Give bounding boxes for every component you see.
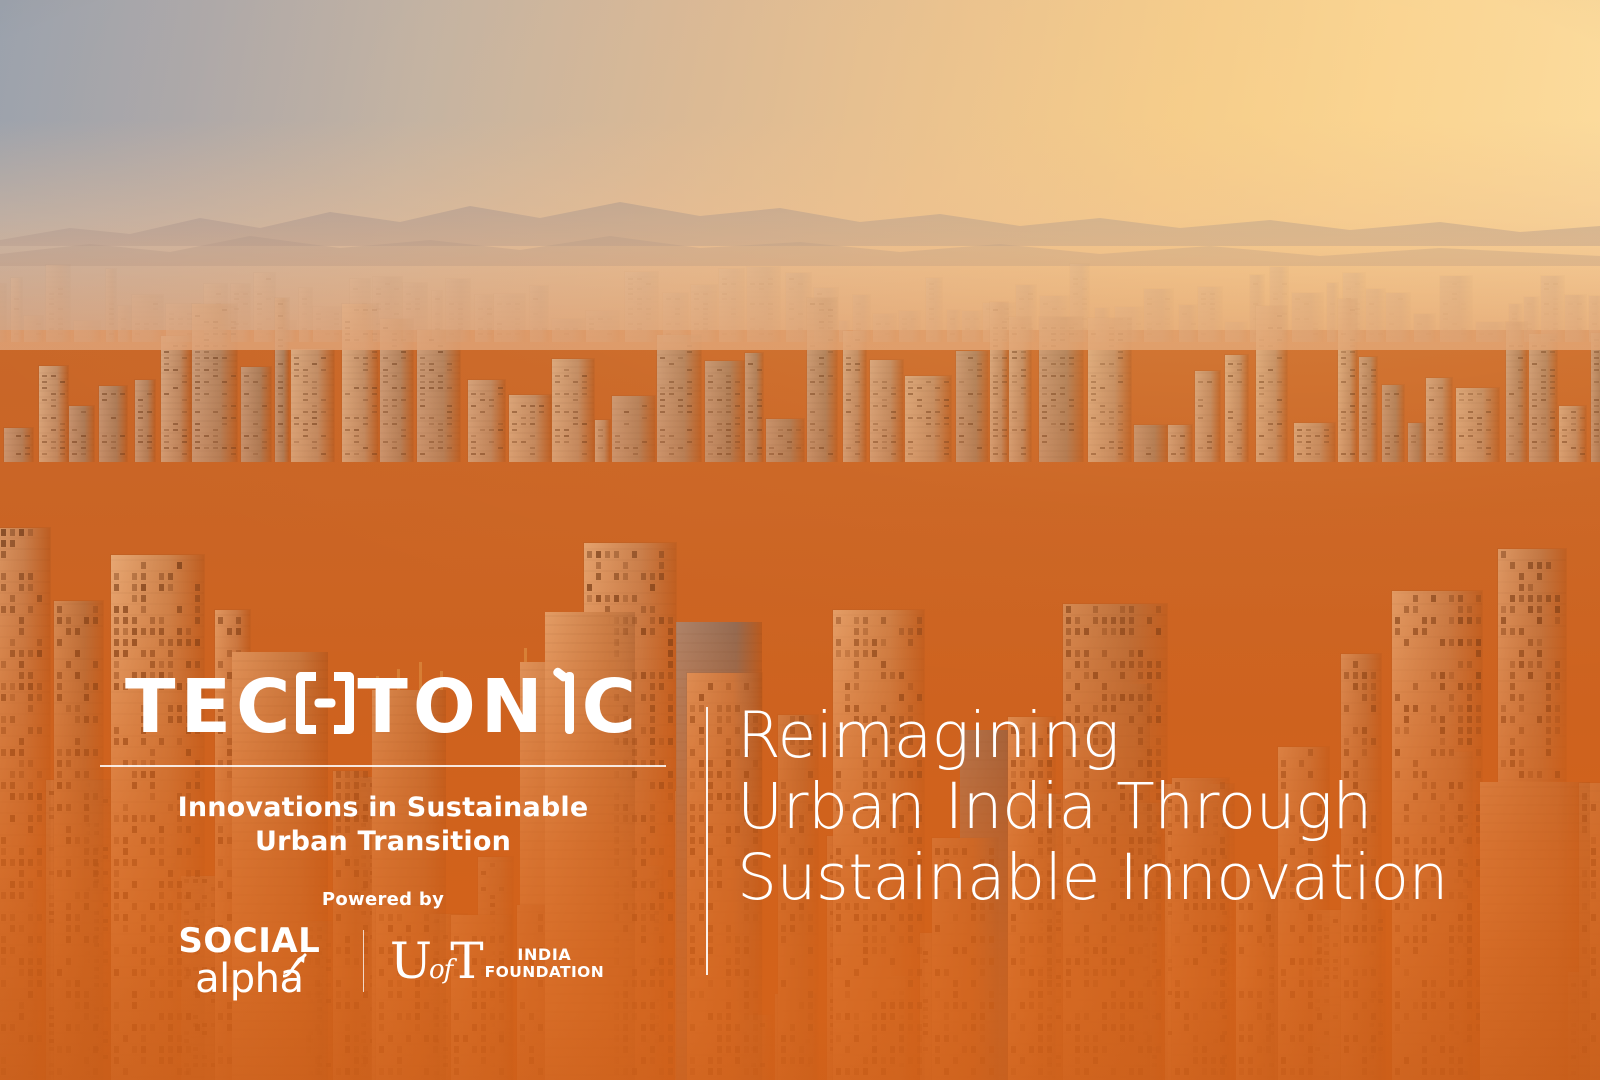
uoft-monogram: U of T xyxy=(390,939,483,984)
uoft-india-foundation-logo: U of T INDIA FOUNDATION xyxy=(390,939,604,984)
social-alpha-bottom: alpha xyxy=(195,959,303,999)
uoft-text-line-2: FOUNDATION xyxy=(485,964,604,980)
techtonic-wordmark: TEC TON C xyxy=(100,672,666,743)
vertical-divider xyxy=(706,707,708,975)
headline: Reimagining Urban India Through Sustaina… xyxy=(737,700,1577,914)
social-alpha-logo: SOCIAL alpha xyxy=(162,924,337,999)
headline-line-2: Urban India Through xyxy=(737,771,1577,842)
numeral-one-icon xyxy=(550,672,580,734)
uoft-of: of xyxy=(429,959,452,982)
wordmark-part-1: TEC xyxy=(125,672,295,743)
headline-line-3: Sustainable Innovation xyxy=(737,842,1577,913)
uoft-u: U xyxy=(390,939,431,984)
brand-lockup: TEC TON C Innovations in Sustainable Urb… xyxy=(100,672,666,999)
brand-divider-rule xyxy=(100,765,666,767)
uoft-foundation-text: INDIA FOUNDATION xyxy=(485,947,604,980)
bracket-h-icon xyxy=(296,672,354,734)
powered-by-label: Powered by xyxy=(100,889,666,910)
tagline-line-1: Innovations in Sustainable xyxy=(100,791,666,825)
wordmark-part-2: TON xyxy=(357,672,547,743)
uoft-text-line-1: INDIA xyxy=(485,947,604,964)
tagline-line-2: Urban Transition xyxy=(100,825,666,859)
brand-tagline: Innovations in Sustainable Urban Transit… xyxy=(100,791,666,859)
headline-line-1: Reimagining xyxy=(737,700,1577,771)
wordmark-part-3: C xyxy=(582,672,641,743)
logo-separator xyxy=(363,930,364,992)
growth-arrow-icon xyxy=(283,952,309,978)
poster: TEC TON C Innovations in Sustainable Urb… xyxy=(0,0,1600,1080)
poster-content: TEC TON C Innovations in Sustainable Urb… xyxy=(0,0,1600,1080)
partner-logos: SOCIAL alpha U of T xyxy=(100,924,666,999)
uoft-t: T xyxy=(450,939,482,984)
